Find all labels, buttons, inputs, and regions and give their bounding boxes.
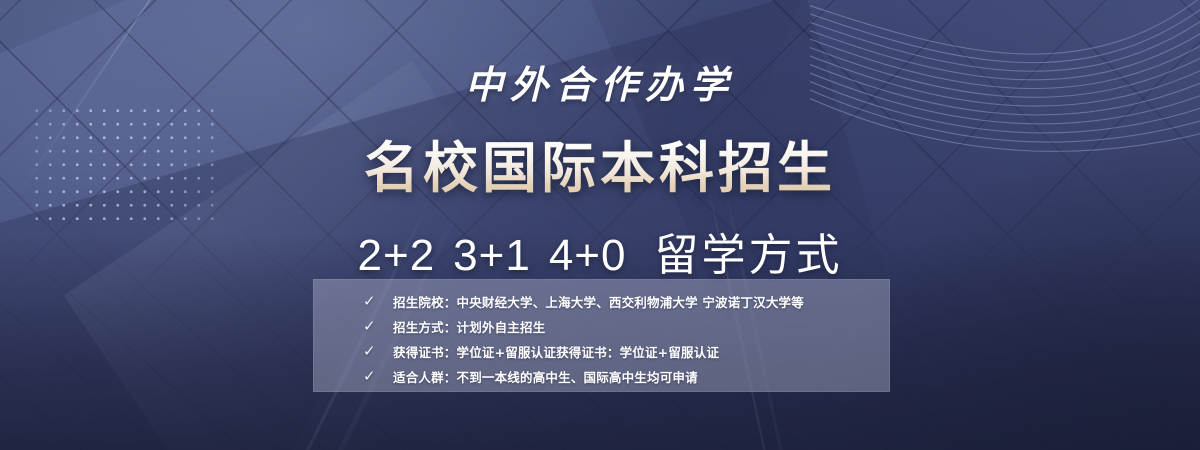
study-mode-4plus0: 4+0	[549, 231, 627, 280]
headline-script: 中外合作办学	[465, 54, 735, 109]
page-title: 名校国际本科招生	[364, 123, 836, 203]
banner-content: 中外合作办学 名校国际本科招生 2+23+14+0留学方式	[0, 0, 1200, 450]
study-mode-3plus1: 3+1	[453, 231, 531, 280]
study-mode-2plus2: 2+2	[358, 231, 436, 280]
headline-subtitle: 2+23+14+0留学方式	[358, 219, 843, 283]
promo-banner: 中外合作办学 名校国际本科招生 2+23+14+0留学方式 ✓ 招生院校：中央财…	[0, 0, 1200, 450]
study-abroad-label: 留学方式	[654, 231, 842, 280]
